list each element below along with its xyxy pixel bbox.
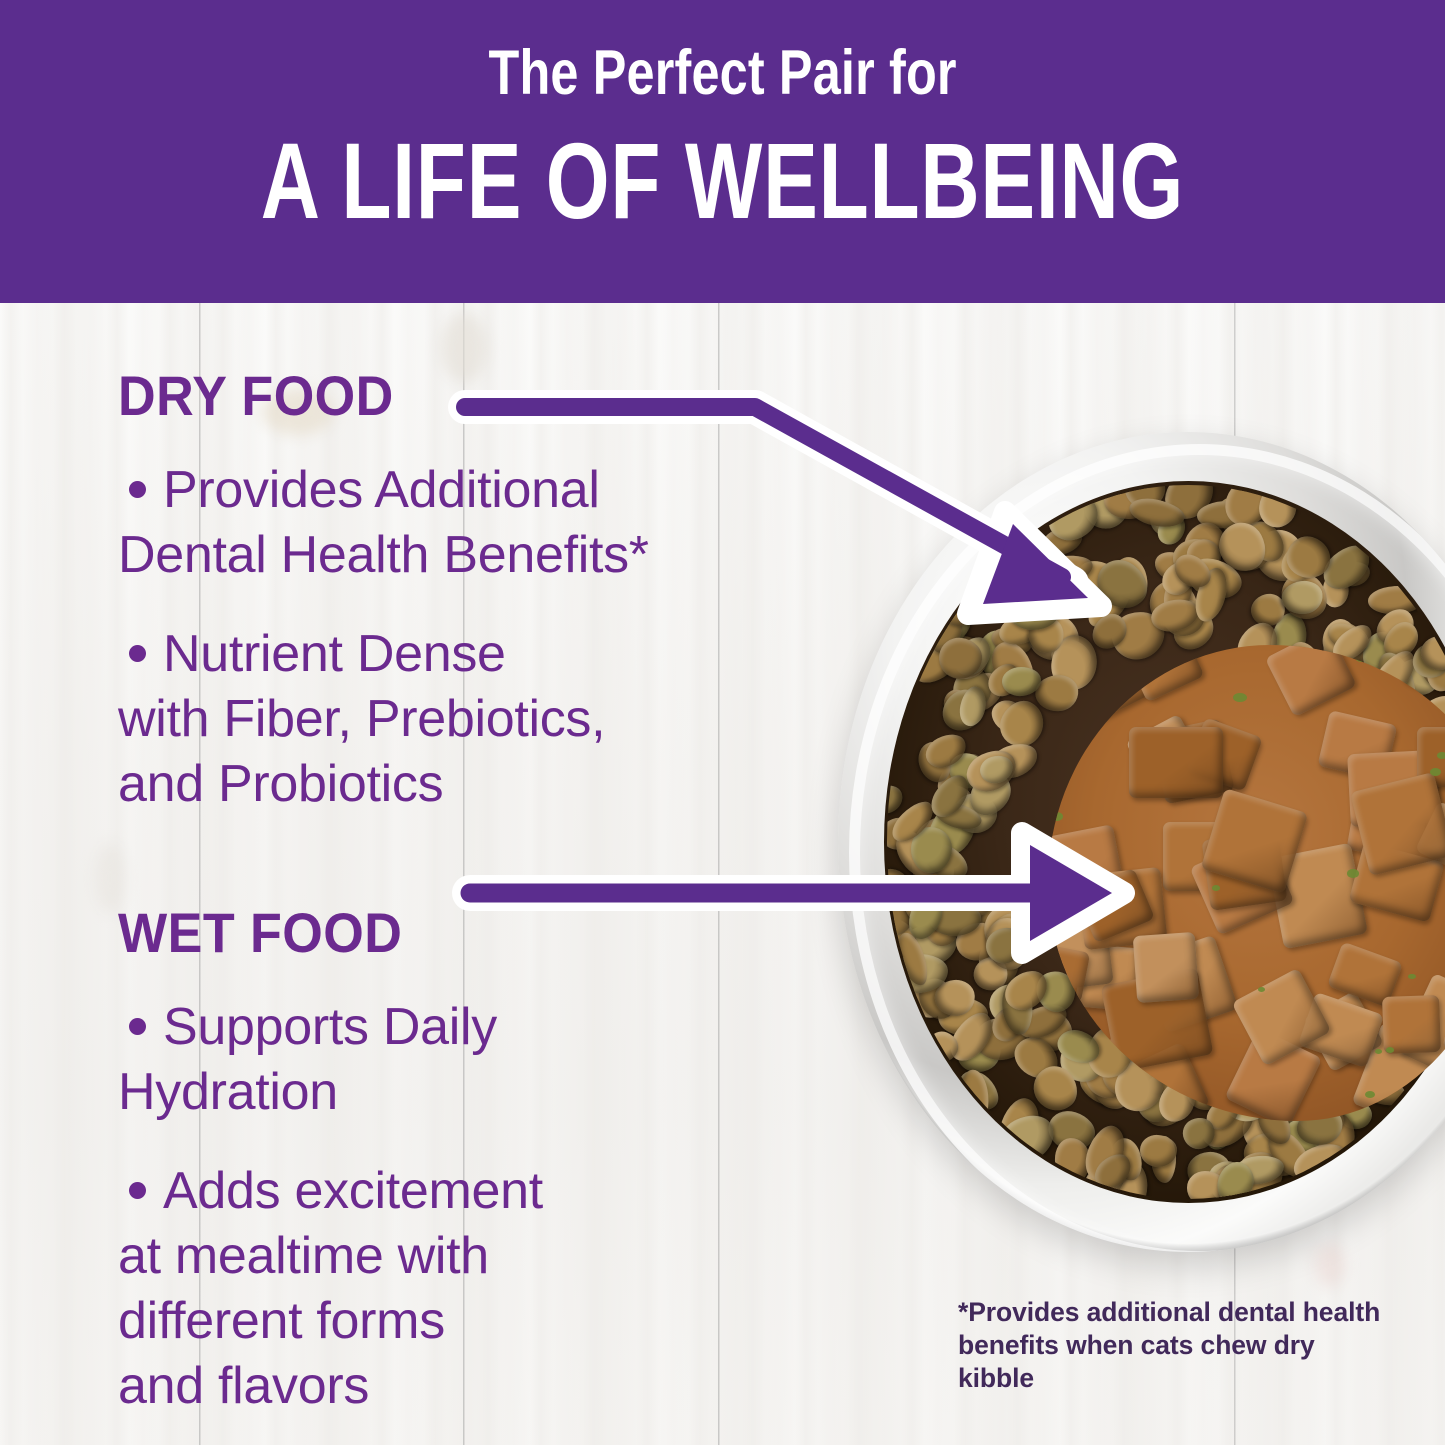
- pet-food-bowl-photo: [838, 432, 1445, 1262]
- header-banner: The Perfect Pair for A LIFE OF WELLBEING: [0, 0, 1445, 303]
- bullet-dot-icon: [129, 481, 146, 498]
- list-item: Adds excitement at mealtime with differe…: [118, 1159, 818, 1419]
- list-item: Nutrient Dense with Fiber, Prebiotics, a…: [118, 622, 818, 817]
- list-item: Provides Additional Dental Health Benefi…: [118, 458, 818, 588]
- infographic-canvas: The Perfect Pair for A LIFE OF WELLBEING: [0, 0, 1445, 1445]
- bullet-text: Nutrient Dense with Fiber, Prebiotics, a…: [118, 625, 605, 813]
- bullet-dot-icon: [129, 1182, 146, 1199]
- bullet-dot-icon: [129, 645, 146, 662]
- bullet-text: Adds excitement at mealtime with differe…: [118, 1162, 543, 1415]
- bullet-text: Supports Daily Hydration: [118, 998, 497, 1121]
- header-title: A LIFE OF WELLBEING: [261, 127, 1184, 235]
- benefits-copy-column: DRY FOOD Provides Additional Dental Heal…: [118, 368, 818, 1419]
- section-heading-dry-food: DRY FOOD: [118, 368, 769, 424]
- bowl-rim-highlight: [849, 444, 1445, 1252]
- footnote-text: *Provides additional dental health benef…: [958, 1296, 1388, 1395]
- bullet-list-wet-food: Supports Daily Hydration Adds excitement…: [118, 995, 818, 1419]
- list-item: Supports Daily Hydration: [118, 995, 818, 1125]
- stainless-steel-bowl: [838, 432, 1445, 1252]
- section-wet-food: WET FOOD Supports Daily Hydration Adds e…: [118, 905, 818, 1419]
- bullet-dot-icon: [129, 1018, 146, 1035]
- section-heading-wet-food: WET FOOD: [118, 905, 769, 961]
- section-dry-food: DRY FOOD Provides Additional Dental Heal…: [118, 368, 818, 817]
- header-subtitle: The Perfect Pair for: [488, 42, 956, 105]
- bullet-list-dry-food: Provides Additional Dental Health Benefi…: [118, 458, 818, 817]
- bullet-text: Provides Additional Dental Health Benefi…: [118, 461, 649, 584]
